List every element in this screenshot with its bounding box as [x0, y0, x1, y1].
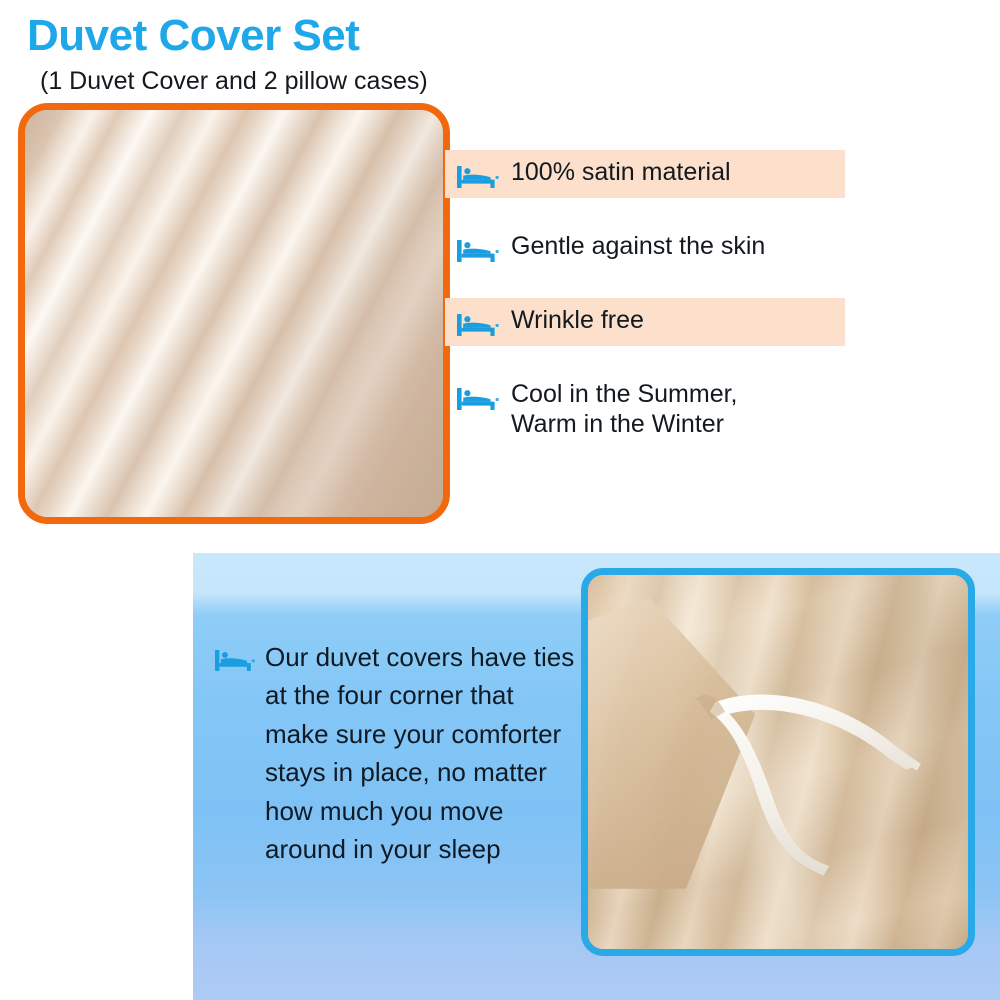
feature-label: Cool in the Summer, Warm in the Winter: [511, 380, 845, 439]
tie-description-block: Our duvet covers have ties at the four c…: [215, 638, 583, 869]
fabric-photo-card: [18, 103, 450, 524]
bed-icon: [215, 648, 255, 673]
bed-icon: [457, 386, 499, 412]
feature-spacer: [445, 346, 845, 372]
feature-spacer: [445, 198, 845, 224]
feature-item: 100% satin material: [445, 150, 845, 198]
page-subtitle: (1 Duvet Cover and 2 pillow cases): [40, 68, 428, 94]
feature-label: Gentle against the skin: [511, 232, 845, 262]
white-tie-ribbon: [588, 575, 968, 949]
fabric-swatch-image: [25, 110, 443, 517]
feature-item: Gentle against the skin: [445, 224, 845, 272]
feature-list: 100% satin material Gentle against the s…: [445, 150, 845, 447]
bed-icon: [457, 312, 499, 338]
feature-item: Wrinkle free: [445, 298, 845, 346]
feature-label: 100% satin material: [511, 158, 845, 188]
page-title: Duvet Cover Set: [27, 14, 359, 58]
bed-icon: [457, 238, 499, 264]
infographic-root: Duvet Cover Set (1 Duvet Cover and 2 pil…: [0, 0, 1000, 1000]
tie-photo-card: [581, 568, 975, 956]
feature-item: Cool in the Summer, Warm in the Winter: [445, 372, 845, 447]
feature-spacer: [445, 272, 845, 298]
feature-label: Wrinkle free: [511, 306, 845, 336]
duvet-tie-image: [588, 575, 968, 949]
bed-icon: [457, 164, 499, 190]
tie-description-text: Our duvet covers have ties at the four c…: [265, 638, 583, 869]
